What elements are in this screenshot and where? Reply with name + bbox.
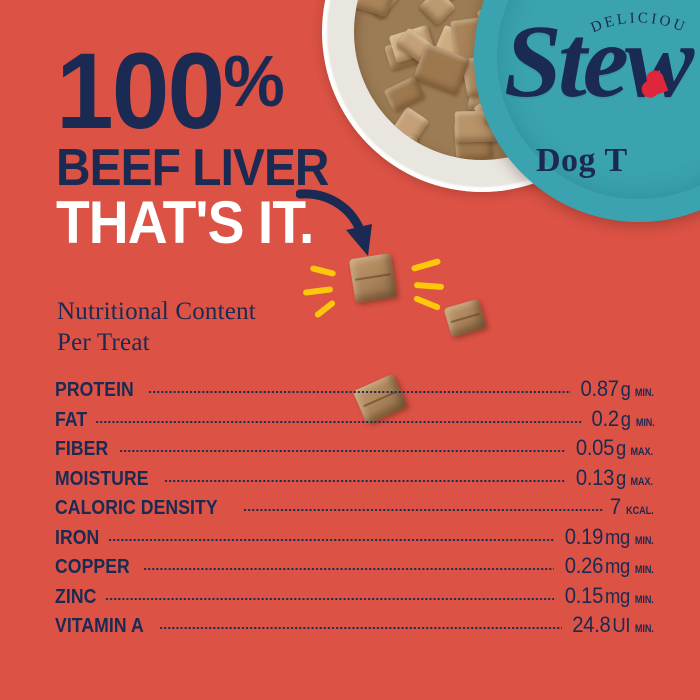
liver-cube [387,107,430,152]
headline-block: 100% BEEF LIVER THAT'S IT. [56,46,356,251]
product-lid-image: GUARANT DELICIOU Stew Dog T [474,0,700,222]
liver-cube [432,24,486,72]
nutrition-value: 0.13gMAX. [576,465,655,491]
nutrition-row: MOISTURE0.13gMAX. [55,465,655,495]
nutrition-heading-line-1: Nutritional Content [57,297,357,328]
product-marketing-panel: GUARANT DELICIOU Stew Dog T 100 [0,0,700,700]
liver-cube [396,27,436,65]
nutrition-label: CALORIC DENSITY [55,497,218,520]
sparkle-dash [413,295,441,311]
sparkle-dash [411,258,441,272]
sparkle-dash [414,282,444,290]
liver-cube [420,0,461,7]
dot-leader [243,498,603,514]
nutrition-qualifier: MIN. [635,623,654,635]
liver-cube [461,51,518,98]
nutrition-row: PROTEIN0.87gMIN. [55,376,655,406]
dot-leader [148,380,571,396]
nutrition-qualifier: MIN. [635,564,654,576]
liver-cube [488,0,534,24]
liver-cube [454,34,487,80]
dot-leader [143,557,554,573]
liver-cube [455,111,498,143]
liver-cube [550,6,591,44]
nutrition-value: 0.15mgMIN. [565,583,655,609]
liver-cube [476,0,519,33]
liver-cube [354,0,403,19]
liver-cube [419,0,456,25]
liver-cube [383,135,421,160]
nutrition-row: COPPER0.26mgMIN. [55,553,655,583]
liver-cube [454,120,493,160]
nutrition-unit: g [620,409,630,431]
liver-cube [505,22,547,70]
brand-subtitle: Dog T [536,142,628,180]
loose-treat-cube [349,253,397,303]
nutrition-label: FIBER [55,438,108,461]
nutrition-unit: mg [605,527,630,549]
nutrition-unit: g [616,438,626,460]
liver-cube [534,78,590,130]
liver-cube [384,37,425,71]
liver-cube [496,17,533,57]
liver-cube [579,0,610,22]
liver-cube [563,119,605,158]
nutrition-amount: 0.19 [565,524,603,549]
liver-cube [538,96,592,147]
liver-cube [547,61,600,114]
brand-heart-icon [647,76,668,97]
nutrition-label: FAT [55,409,87,432]
liver-cube [509,85,552,128]
lid-guaranteed-text: GUARANT [583,0,695,2]
nutrition-amount: 0.87 [580,376,618,401]
lid-arc-text: GUARANT DELICIOU [474,0,700,222]
nutrition-value: 0.2gMIN. [591,406,655,432]
lid-face [497,0,700,199]
liver-cube [354,0,397,18]
nutrition-label: VITAMIN A [55,615,144,638]
lid-delicious-text: DELICIOU [589,10,690,36]
liver-cube [413,43,471,95]
loose-treat-cube [444,299,487,338]
liver-cube [564,0,604,13]
liver-cube [450,17,489,67]
nutrition-amount: 0.2 [591,406,618,431]
nutrition-qualifier: MIN. [635,535,654,547]
nutrition-label: ZINC [55,586,96,609]
liver-cube [354,126,390,160]
nutrition-qualifier: MAX. [631,476,653,488]
liver-cube [537,0,602,16]
nutrition-label: PROTEIN [55,379,134,402]
nutrition-qualifier: MIN. [635,594,654,606]
liver-cube [389,24,435,63]
nutrition-row: ZINC0.15mgMIN. [55,583,655,613]
nutrition-label: IRON [55,527,99,550]
nutrition-value: 0.87gMIN. [580,376,655,402]
nutrition-table: PROTEIN0.87gMIN.FAT0.2gMIN.FIBER0.05gMAX… [55,376,655,642]
nutrition-heading: Nutritional Content Per Treat [57,297,357,358]
liver-cube [484,86,531,137]
nutrition-value: 7KCAL. [610,494,655,520]
nutrition-qualifier: MAX. [631,446,653,458]
tub-rim [322,0,642,192]
headline-percent-number: 100 [56,30,223,151]
brand-script-logo: Stew [504,10,690,114]
liver-cube [384,75,425,111]
nutrition-row: FAT0.2gMIN. [55,406,655,436]
liver-cube [473,80,532,135]
nutrition-value: 0.05gMAX. [576,435,655,461]
liver-cube [507,41,556,83]
sparkle-dash [303,286,334,296]
liver-cube [467,69,507,116]
nutrition-amount: 24.8 [572,612,610,637]
nutrition-row: FIBER0.05gMAX. [55,435,655,465]
liver-cube [536,25,581,61]
nutrition-heading-line-2: Per Treat [57,328,357,359]
treat-tub-image [322,0,642,192]
liver-cube [545,112,593,160]
nutrition-qualifier: KCAL. [626,505,653,517]
nutrition-unit: g [616,468,626,490]
headline-line-2: BEEF LIVER [56,145,332,193]
nutrition-value: 0.26mgMIN. [565,553,655,579]
nutrition-unit: UI [612,615,630,637]
nutrition-unit: mg [605,586,630,608]
liver-cube [498,94,550,138]
headline-percent: 100% [56,46,344,137]
liver-cube [525,0,561,36]
nutrition-amount: 0.15 [565,583,603,608]
nutrition-value: 24.8UIMIN. [572,612,655,638]
dot-leader [105,587,554,603]
nutrition-amount: 0.05 [576,435,614,460]
dot-leader [95,410,583,426]
headline-percent-symbol: % [223,42,283,122]
liver-cube [531,0,590,40]
liver-cube [555,78,609,135]
nutrition-label: COPPER [55,556,130,579]
dot-leader [119,439,567,455]
nutrition-unit: mg [605,556,630,578]
liver-cube [548,40,598,83]
nutrition-qualifier: MIN. [635,417,654,429]
nutrition-row: IRON0.19mgMIN. [55,524,655,554]
nutrition-label: MOISTURE [55,468,149,491]
tub-contents [354,0,610,160]
headline-line-3: THAT'S IT. [56,195,332,251]
dot-leader [164,469,566,485]
liver-cube [539,0,592,33]
nutrition-amount: 0.26 [565,553,603,578]
nutrition-amount: 7 [610,494,621,519]
nutrition-row: VITAMIN A24.8UIMIN. [55,612,655,642]
dot-leader [159,616,562,632]
nutrition-qualifier: MIN. [635,387,654,399]
nutrition-amount: 0.13 [576,465,614,490]
nutrition-value: 0.19mgMIN. [565,524,655,550]
nutrition-unit: g [620,379,630,401]
liver-cube [550,113,609,160]
nutrition-row: CALORIC DENSITY7KCAL. [55,494,655,524]
dot-leader [108,528,554,544]
liver-cube [491,79,526,106]
sparkle-dash [310,265,337,277]
